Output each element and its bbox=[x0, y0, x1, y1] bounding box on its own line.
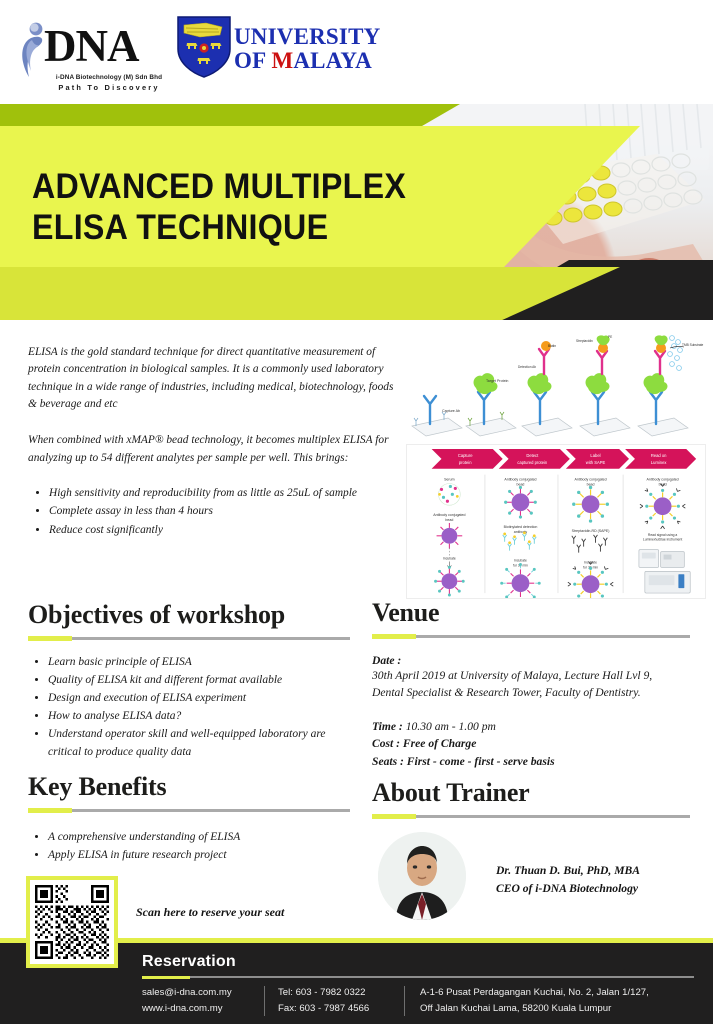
um-line-2: OF MALAYA bbox=[234, 49, 380, 73]
qr-code-icon[interactable] bbox=[35, 885, 109, 959]
footer-heading-reservation: Reservation bbox=[142, 953, 236, 971]
trainer-name: Dr. Thuan D. Bui, PhD, MBA bbox=[496, 862, 640, 880]
footer-column-address: A-1-6 Pusat Perdagangan Kuchai, No. 2, J… bbox=[404, 985, 690, 1019]
workflow-arrow-label-4: Read on bbox=[651, 453, 667, 458]
idna-logo: DNA i-DNA Biotechnology (M) Sdn Bhd Path… bbox=[18, 18, 170, 94]
header-bar: DNA i-DNA Biotechnology (M) Sdn Bhd Path… bbox=[0, 0, 713, 104]
workflow-col1-note: Incubate bbox=[443, 557, 456, 561]
venue-details: Date : 30th April 2019 at University of … bbox=[372, 654, 690, 771]
luminex-instrument-illustration bbox=[639, 550, 690, 593]
footer-column-phone: Tel: 603 - 7982 0322 Fax: 603 - 7987 456… bbox=[264, 985, 404, 1019]
intro-paragraph-2: When combined with xMAP® bead technology… bbox=[28, 432, 396, 467]
diagram-label-pe: PE bbox=[608, 335, 612, 339]
svg-text:with SAPE: with SAPE bbox=[586, 460, 606, 465]
list-item: High sensitivity and reproducibility fro… bbox=[49, 484, 396, 502]
footer-address-line-2: Off Jalan Kuchai Lama, 58200 Kuala Lumpu… bbox=[420, 1001, 678, 1017]
venue-date-label: Date : bbox=[372, 654, 690, 667]
objectives-list: Learn basic principle of ELISA Quality o… bbox=[28, 654, 350, 762]
workflow-col3-mid: Streptavidin-RD (SAPE) bbox=[572, 529, 610, 533]
venue-seats: Seats : First - come - first - serve bas… bbox=[372, 753, 690, 771]
um-of: OF bbox=[234, 48, 271, 73]
footer-column-web: sales@i-dna.com.my www.i-dna.com.my bbox=[142, 985, 264, 1019]
venue-date-line-1: 30th April 2019 at University of Malaya,… bbox=[372, 667, 690, 684]
workflow-col1-mid: Antibody conjugated bbox=[433, 513, 465, 517]
footer-address-line-1: A-1-6 Pusat Perdagangan Kuchai, No. 2, J… bbox=[420, 985, 678, 1001]
qr-caption: Scan here to reserve your seat bbox=[136, 905, 284, 920]
section-divider bbox=[28, 637, 350, 640]
section-divider bbox=[28, 809, 350, 812]
workflow-arrow-row: Capture protein Detect captured protein … bbox=[432, 449, 697, 469]
section-heading-objectives: Objectives of workshop bbox=[28, 600, 350, 630]
venue-time: Time : 10.30 am - 1.00 pm bbox=[372, 718, 690, 736]
poster-title-line-2: ELISA TECHNIQUE bbox=[32, 207, 406, 248]
workflow-col4-note: Read signal using a bbox=[648, 533, 678, 537]
workflow-arrow-label-3: Label bbox=[590, 453, 600, 458]
trainer-name-block: Dr. Thuan D. Bui, PhD, MBA CEO of i-DNA … bbox=[496, 862, 640, 898]
diagram-label-detection-ab: Detection Ab bbox=[518, 365, 536, 369]
key-benefits-section: Key Benefits A comprehensive understandi… bbox=[28, 772, 350, 865]
workflow-arrow-label-1: Capture bbox=[458, 453, 473, 458]
trainer-portrait-illustration bbox=[378, 832, 466, 920]
list-item: How to analyse ELISA data? bbox=[48, 708, 350, 726]
workflow-col3-title: Antibody conjugated bbox=[574, 478, 606, 482]
section-divider bbox=[372, 635, 690, 638]
multiplex-bead-workflow-diagram: Capture protein Detect captured protein … bbox=[406, 444, 706, 599]
venue-time-label: Time : bbox=[372, 720, 403, 733]
list-item: Learn basic principle of ELISA bbox=[48, 654, 350, 672]
list-item: Design and execution of ELISA experiment bbox=[48, 690, 350, 708]
svg-text:Luminex: Luminex bbox=[651, 460, 668, 465]
qr-code-box[interactable] bbox=[26, 876, 118, 968]
list-item: Quality of ELISA kit and different forma… bbox=[48, 672, 350, 690]
section-heading-key-benefits: Key Benefits bbox=[28, 772, 350, 802]
list-item: Understand operator skill and well-equip… bbox=[48, 726, 350, 762]
diagram-label-capture-ab: Capture Ab bbox=[442, 409, 460, 413]
section-divider bbox=[372, 815, 690, 818]
key-benefits-list: A comprehensive understanding of ELISA A… bbox=[28, 828, 350, 865]
svg-text:protein: protein bbox=[459, 460, 472, 465]
um-crest-icon bbox=[176, 15, 232, 79]
svg-text:captured protein: captured protein bbox=[517, 460, 548, 465]
idna-company-name: i-DNA Biotechnology (M) Sdn Bhd bbox=[44, 74, 174, 81]
svg-text:bead: bead bbox=[445, 518, 453, 522]
venue-time-value: 10.30 am - 1.00 pm bbox=[406, 720, 496, 733]
workflow-col2-title: Antibody conjugated bbox=[504, 478, 536, 482]
university-of-malaya-logo: UNIVERSITY OF MALAYA bbox=[176, 13, 356, 85]
workflow-col2-mid: Biotinylated detection bbox=[504, 525, 538, 529]
footer-divider bbox=[142, 976, 694, 978]
workflow-col4-title: Antibody conjugated bbox=[647, 478, 679, 482]
bead-1 bbox=[437, 523, 463, 549]
diagram-label-streptavidin: Streptavidin bbox=[576, 339, 593, 343]
footer-contact-columns: sales@i-dna.com.my www.i-dna.com.my Tel:… bbox=[142, 985, 698, 1019]
diagram-label-target-protein: Target Protein bbox=[486, 379, 508, 383]
poster-title: ADVANCED MULTIPLEX ELISA TECHNIQUE bbox=[32, 166, 406, 249]
um-m-letter: M bbox=[271, 48, 293, 73]
trainer-role: CEO of i-DNA Biotechnology bbox=[496, 880, 640, 898]
venue-date-line-2: Dental Specialist & Research Tower, Facu… bbox=[372, 684, 690, 701]
list-item: Apply ELISA in future research project bbox=[48, 846, 350, 864]
title-banner: ADVANCED MULTIPLEX ELISA TECHNIQUE bbox=[0, 104, 713, 320]
diagram-label-biotin: Biotin bbox=[548, 344, 556, 348]
list-item: Reduce cost significantly bbox=[49, 521, 396, 539]
workflow-arrow-label-2: Detect bbox=[526, 453, 539, 458]
poster-root: DNA i-DNA Biotechnology (M) Sdn Bhd Path… bbox=[0, 0, 713, 1024]
um-alaya: ALAYA bbox=[293, 48, 372, 73]
about-trainer-section: About Trainer Dr. Thuan D. Bui, PhD, MBA bbox=[372, 778, 690, 932]
spacer bbox=[372, 702, 690, 718]
sandwich-elisa-diagram: Capture Ab Target Protein bbox=[404, 334, 706, 444]
intro-paragraph-1: ELISA is the gold standard technique for… bbox=[28, 344, 396, 413]
footer-website[interactable]: www.i-dna.com.my bbox=[142, 1001, 252, 1017]
idna-tagline: Path To Discovery bbox=[44, 83, 174, 92]
um-line-1: UNIVERSITY bbox=[234, 25, 380, 49]
um-wordmark: UNIVERSITY OF MALAYA bbox=[234, 25, 380, 74]
intro-bullet-list: High sensitivity and reproducibility fro… bbox=[28, 484, 396, 539]
venue-section: Venue Date : 30th April 2019 at Universi… bbox=[372, 598, 690, 771]
diagram-label-tmb-substrate: TMB Substrate bbox=[682, 343, 703, 347]
footer-email[interactable]: sales@i-dna.com.my bbox=[142, 985, 252, 1001]
venue-cost: Cost : Free of Charge bbox=[372, 735, 690, 753]
objectives-section: Objectives of workshop Learn basic princ… bbox=[28, 600, 350, 762]
footer-fax: Fax: 603 - 7987 4566 bbox=[278, 1001, 392, 1017]
intro-text-block: ELISA is the gold standard technique for… bbox=[28, 344, 396, 539]
idna-wordmark: DNA bbox=[44, 24, 139, 69]
trainer-details: Dr. Thuan D. Bui, PhD, MBA CEO of i-DNA … bbox=[372, 832, 690, 932]
poster-title-line-1: ADVANCED MULTIPLEX bbox=[32, 166, 406, 207]
section-heading-venue: Venue bbox=[372, 598, 690, 628]
workflow-col2-note: Incubate bbox=[514, 558, 527, 562]
list-item: A comprehensive understanding of ELISA bbox=[48, 828, 350, 846]
list-item: Complete assay in less than 4 hours bbox=[49, 502, 396, 520]
svg-text:Luminex\u00ae instrument: Luminex\u00ae instrument bbox=[643, 538, 682, 542]
section-heading-about-trainer: About Trainer bbox=[372, 778, 690, 808]
footer-tel: Tel: 603 - 7982 0322 bbox=[278, 985, 392, 1001]
workflow-col1-title: Serum bbox=[444, 478, 454, 482]
trainer-avatar bbox=[378, 832, 466, 920]
